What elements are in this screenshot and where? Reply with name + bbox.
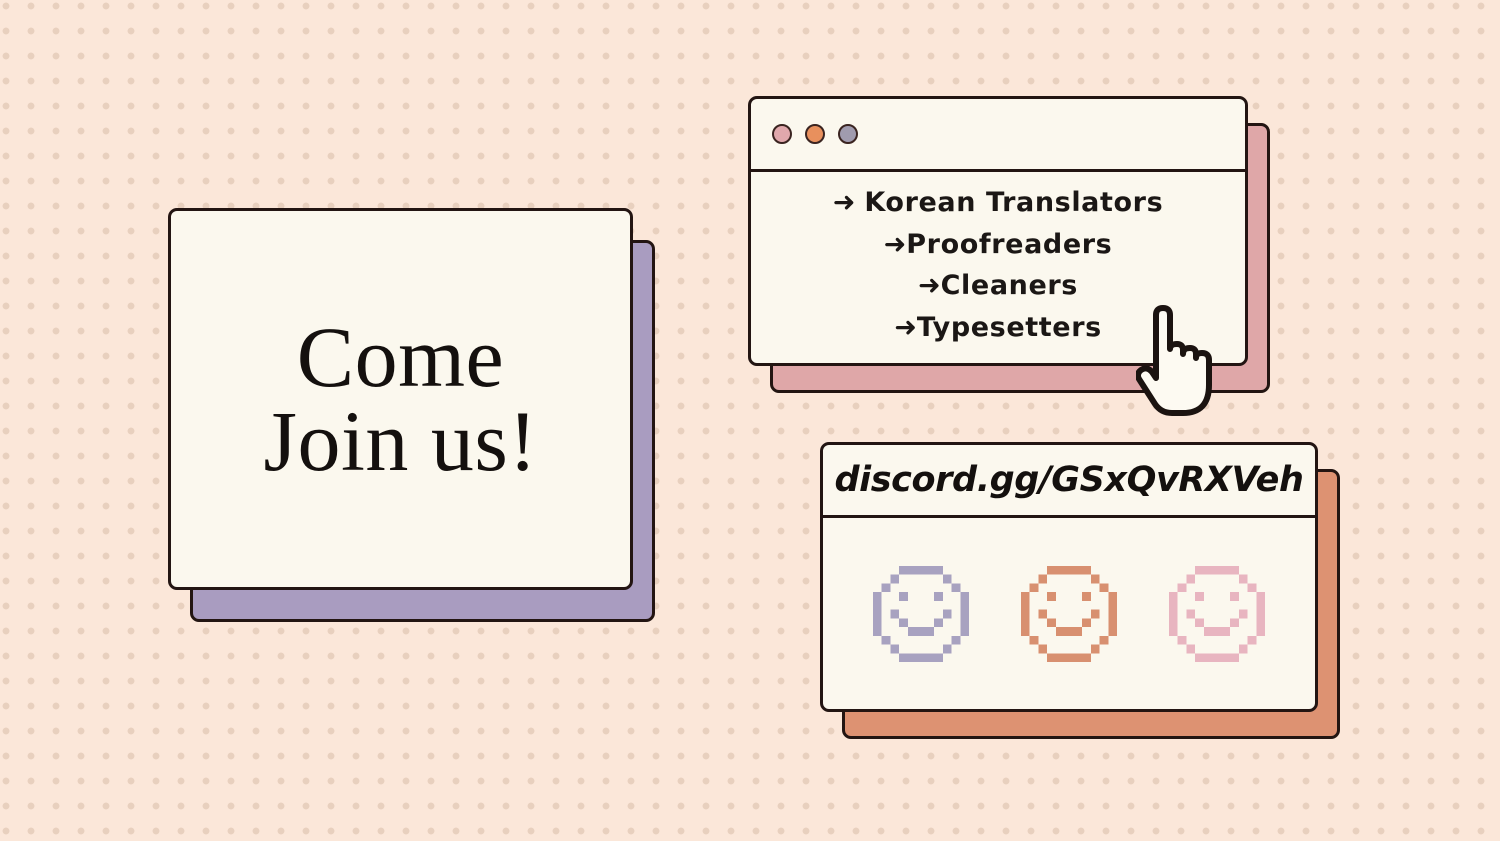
role-item-cleaners: ➜Cleaners — [918, 266, 1078, 307]
discord-invite-window: discord.gg/GSxQvRXVeh — [820, 442, 1365, 747]
discord-invite-link[interactable]: discord.gg/GSxQvRXVeh — [835, 460, 1304, 500]
discord-window-panel: discord.gg/GSxQvRXVeh — [820, 442, 1318, 712]
arrow-right-icon: ➜ — [894, 312, 917, 343]
smiley-pink — [1169, 566, 1265, 662]
role-label: Korean Translators — [864, 187, 1163, 218]
role-item-korean-translators: ➜Korean Translators — [833, 183, 1164, 224]
smiley-terracotta — [1021, 566, 1117, 662]
arrow-right-icon: ➜ — [918, 270, 941, 301]
smiley-row — [823, 518, 1315, 709]
window-dot-pink[interactable] — [772, 124, 792, 144]
roles-window-titlebar — [751, 99, 1245, 172]
window-dot-orange[interactable] — [805, 124, 825, 144]
join-card-panel: Come Join us! — [168, 208, 633, 590]
role-label: Typesetters — [917, 312, 1102, 343]
arrow-right-icon: ➜ — [884, 229, 907, 260]
role-label: Proofreaders — [906, 229, 1112, 260]
smiley-lavender — [873, 566, 969, 662]
discord-url-bar[interactable]: discord.gg/GSxQvRXVeh — [823, 445, 1315, 518]
arrow-right-icon: ➜ — [833, 187, 856, 218]
join-card-text: Come Join us! — [264, 315, 538, 484]
join-card-line-1: Come — [264, 315, 538, 399]
role-item-proofreaders: ➜Proofreaders — [884, 225, 1113, 266]
join-card-line-2: Join us! — [264, 399, 538, 483]
role-label: Cleaners — [941, 270, 1078, 301]
window-dot-purple[interactable] — [838, 124, 858, 144]
pointing-hand-cursor-icon — [1136, 305, 1226, 417]
role-item-typesetters: ➜Typesetters — [894, 308, 1102, 349]
come-join-us-card: Come Join us! — [168, 208, 658, 623]
